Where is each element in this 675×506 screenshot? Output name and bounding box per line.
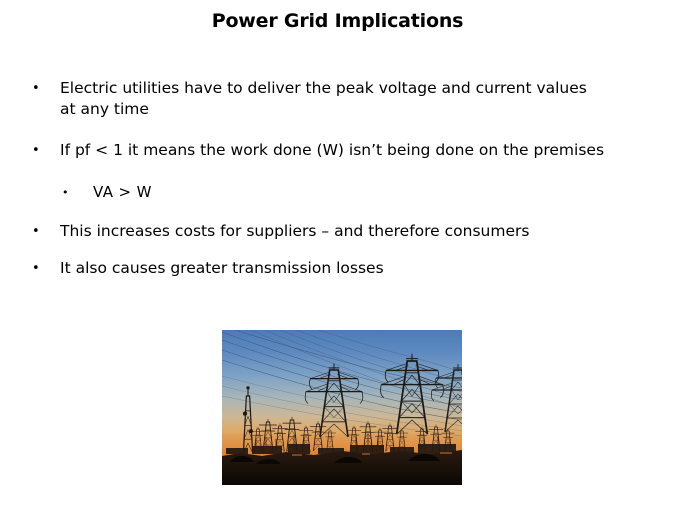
list-item: • If pf < 1 it means the work done (W) i… [28,140,628,161]
list-item-label: Electric utilities have to deliver the p… [60,78,605,120]
sub-bullet-list: • VA > W [28,182,628,203]
slide-canvas: Power Grid Implications • Electric utili… [0,0,675,506]
power-transmission-towers-sunset-photo [222,330,462,485]
list-item-label: This increases costs for suppliers – and… [60,221,605,242]
bullet-list: • Electric utilities have to deliver the… [28,78,628,300]
bullet-marker-icon: • [28,258,60,279]
page-title: Power Grid Implications [0,10,675,32]
list-item: • Electric utilities have to deliver the… [28,78,628,120]
bullet-marker-icon: • [28,78,60,99]
slide-image [222,330,462,485]
sub-list-item: • VA > W [28,182,628,203]
list-item-label: It also causes greater transmission loss… [60,258,605,279]
list-item-label: If pf < 1 it means the work done (W) isn… [60,140,605,161]
bullet-marker-icon: • [28,221,60,242]
list-item: • It also causes greater transmission lo… [28,258,628,279]
sub-bullet-marker-icon: • [62,182,93,203]
sub-list-item-label: VA > W [93,182,628,203]
bullet-marker-icon: • [28,140,60,161]
list-item: • This increases costs for suppliers – a… [28,221,628,242]
